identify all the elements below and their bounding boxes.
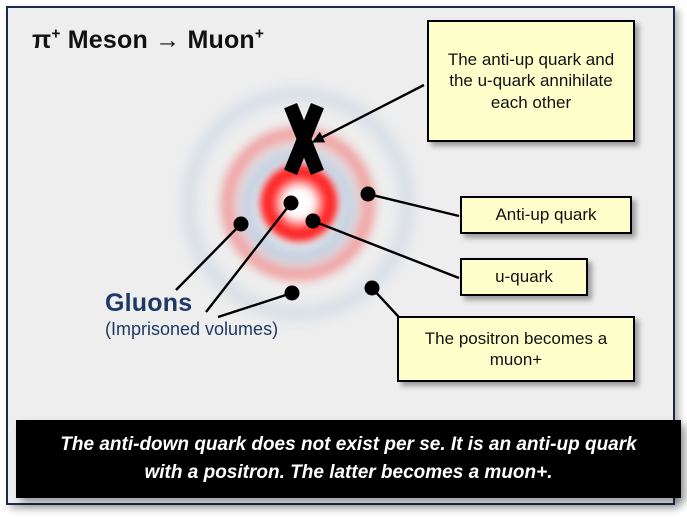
title-muon-charge: + bbox=[255, 26, 264, 43]
callout-u-quark: u-quark bbox=[460, 258, 588, 296]
annihilation-x-icon bbox=[274, 106, 334, 172]
callout-annihilate: The anti-up quark and the u-quark annihi… bbox=[427, 20, 635, 142]
particle-physics-figure: π+ Meson → Muon+ Gluons (Imprisoned volu… bbox=[0, 0, 687, 517]
gluons-sublabel: (Imprisoned volumes) bbox=[105, 319, 278, 339]
title-pion-symbol: π bbox=[32, 26, 51, 54]
title-meson-word: Meson bbox=[68, 26, 148, 54]
title-muon-word: Muon bbox=[187, 26, 254, 54]
title-pion-charge: + bbox=[51, 26, 60, 43]
gluons-label: Gluons bbox=[105, 290, 278, 316]
callout-anti-up-quark: Anti-up quark bbox=[460, 196, 632, 234]
title-arrow-icon: → bbox=[155, 26, 180, 54]
page-title: π+ Meson → Muon+ bbox=[32, 26, 264, 55]
callout-positron: The positron becomes a muon+ bbox=[397, 316, 635, 382]
figure-caption: The anti-down quark does not exist per s… bbox=[16, 420, 681, 498]
gluons-label-group: Gluons (Imprisoned volumes) bbox=[105, 290, 278, 339]
inner-red-core bbox=[260, 164, 338, 242]
